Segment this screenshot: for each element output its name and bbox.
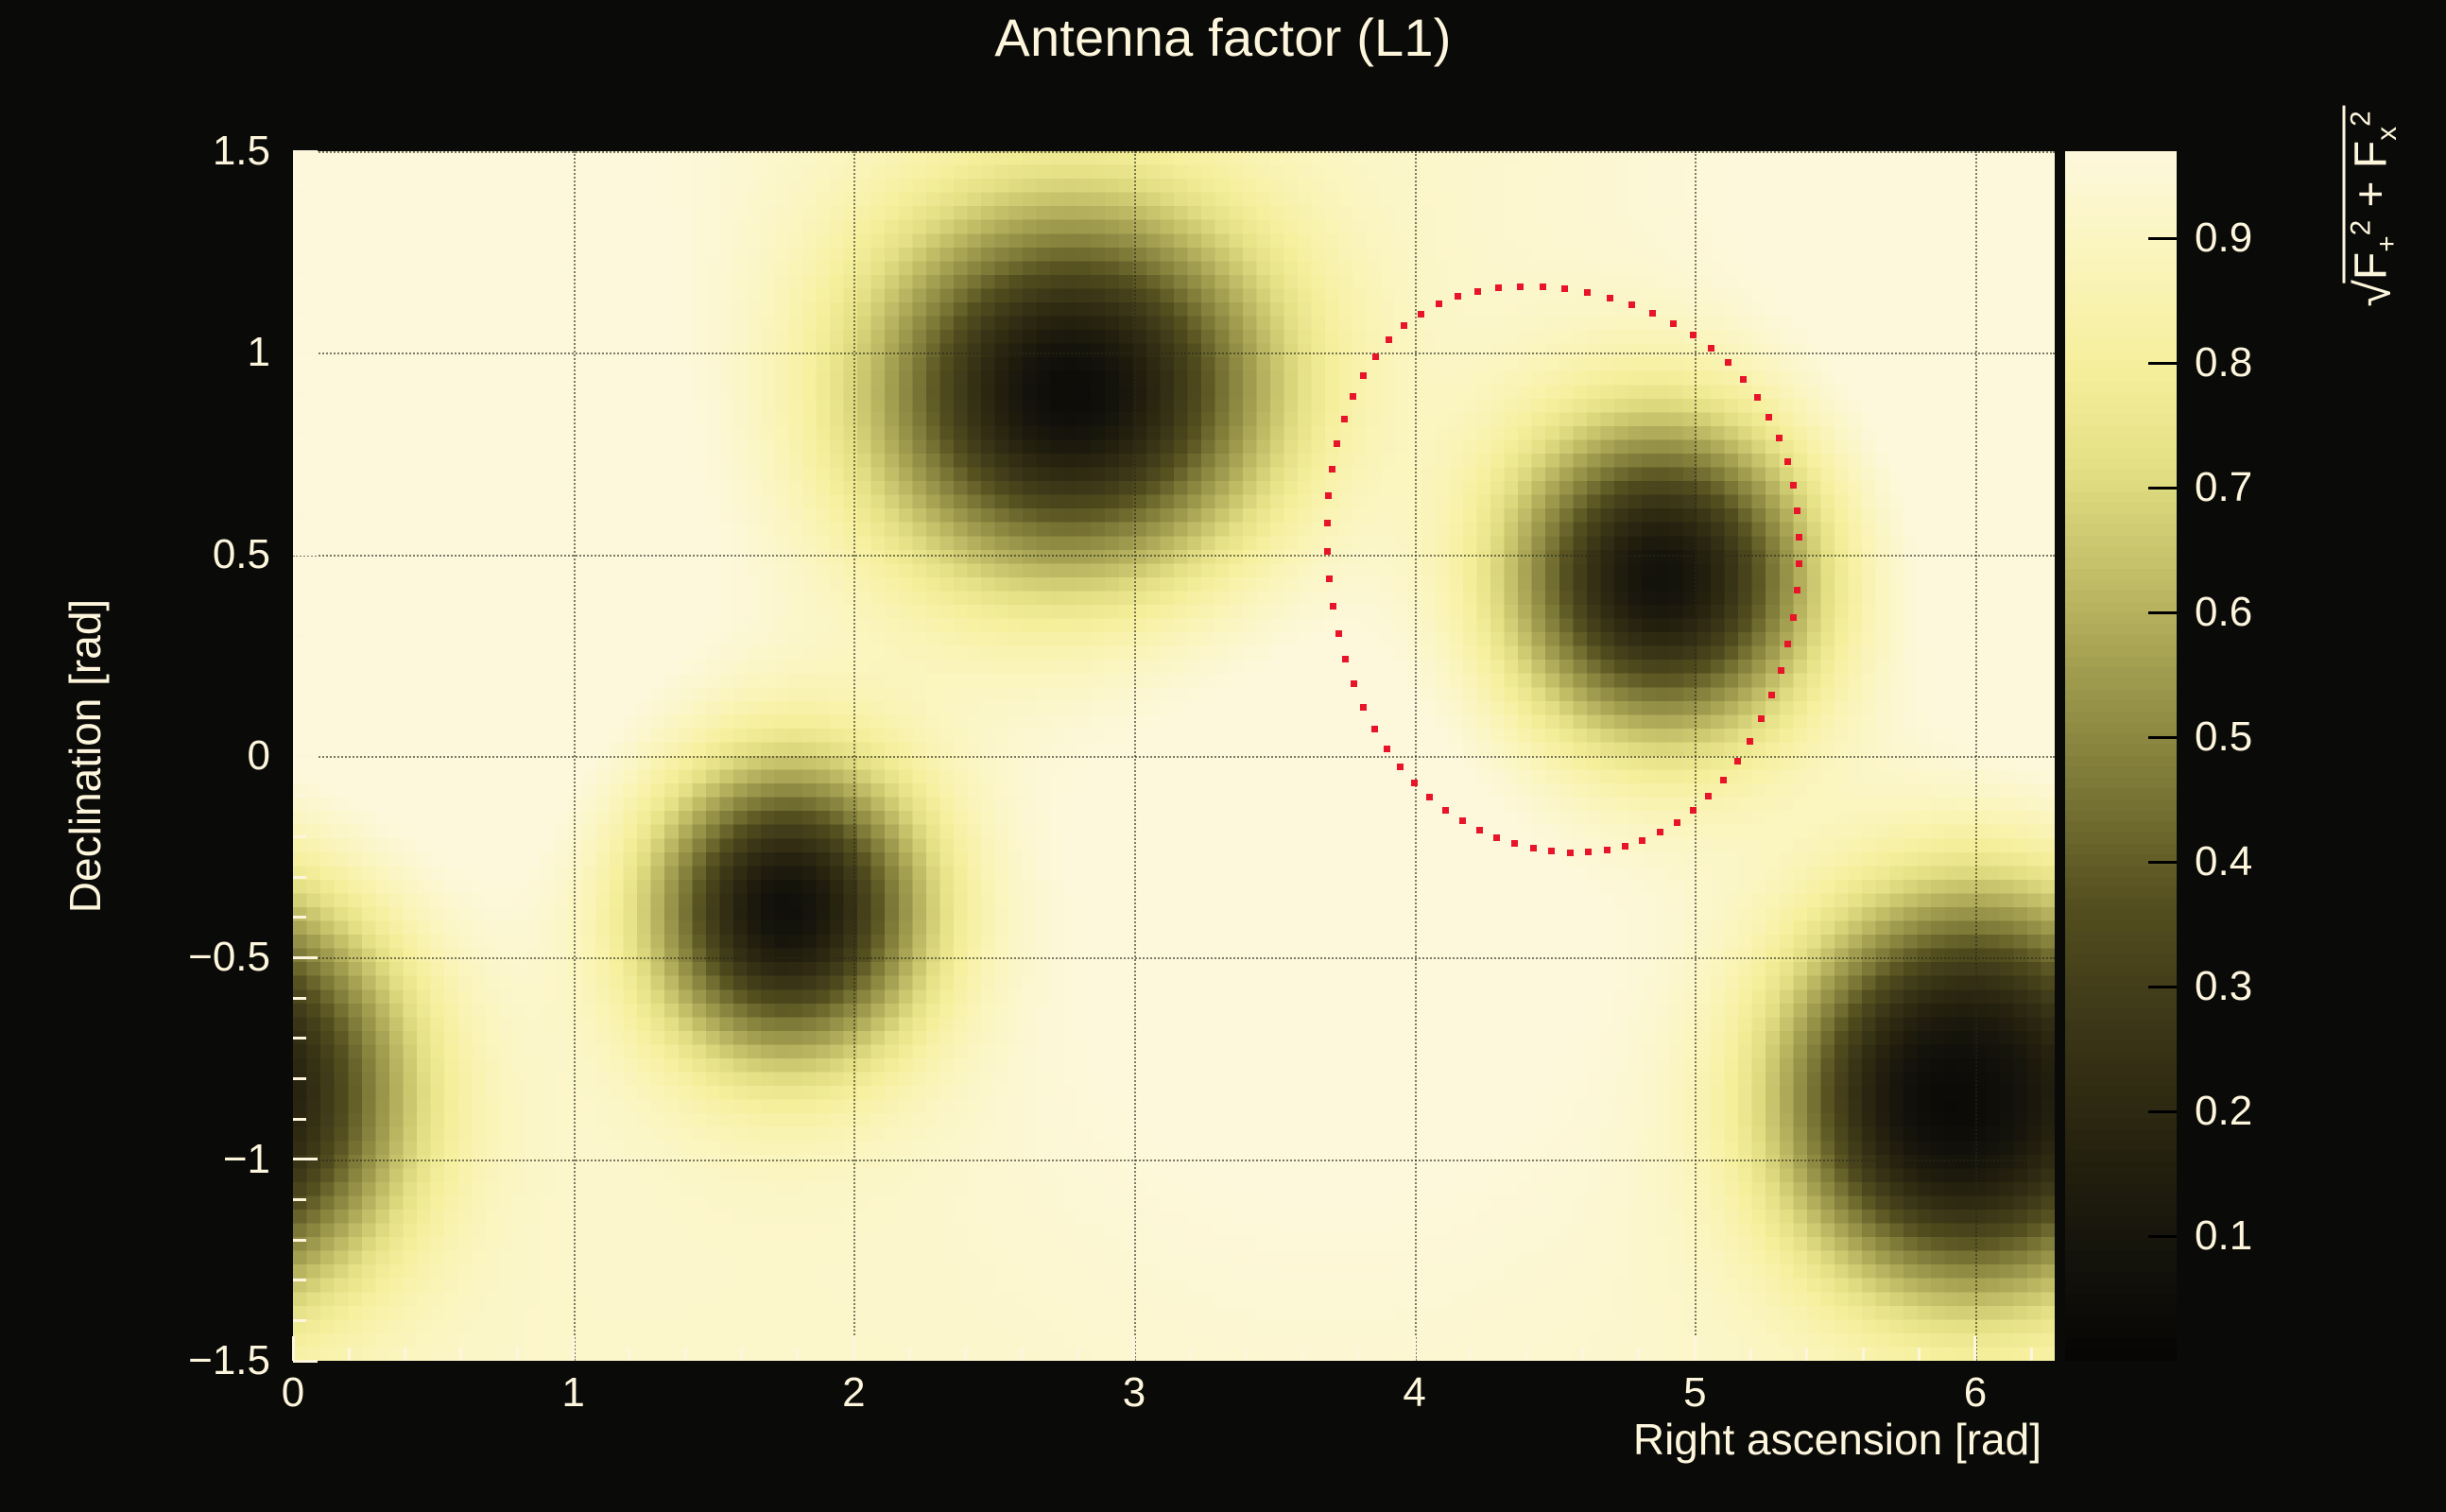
y-tick-label-4: 0.5 [213, 534, 270, 576]
y-axis-title-text: Declination [rad] [61, 599, 109, 913]
y-tick-minor [293, 271, 306, 274]
x-tick-major-5 [1694, 1336, 1697, 1361]
x-tick-minor [1301, 1348, 1303, 1361]
y-tick-minor [293, 795, 306, 798]
operator: + [2347, 180, 2397, 207]
x-tick-major-3 [1132, 1336, 1135, 1361]
x-tick-minor [516, 1348, 519, 1361]
colorbar-label-7: 0.8 [2195, 342, 2252, 384]
colorbar-label-3: 0.4 [2195, 841, 2252, 883]
colorbar-tick-5 [2148, 611, 2177, 614]
y-tick-major-1 [293, 1158, 318, 1160]
x-tick-minor [1245, 1348, 1248, 1361]
x-tick-label-0: 0 [282, 1372, 304, 1414]
colorbar-tick-6 [2148, 487, 2177, 490]
y-tick-label-0: −1.5 [188, 1340, 270, 1382]
colorbar-tick-8 [2148, 237, 2177, 240]
colorbar-tick-1 [2148, 1110, 2177, 1113]
x-tick-minor [1749, 1348, 1752, 1361]
y-tick-minor [293, 1239, 306, 1242]
y-tick-minor [293, 1077, 306, 1080]
x-tick-minor [1189, 1348, 1192, 1361]
colorbar[interactable] [2065, 151, 2177, 1361]
colorbar-label-6: 0.7 [2195, 467, 2252, 508]
colorbar-label-2: 0.3 [2195, 966, 2252, 1007]
x-tick-minor [1637, 1348, 1640, 1361]
colorbar-tick-0 [2148, 1235, 2177, 1238]
colorbar-label-1: 0.2 [2195, 1091, 2252, 1132]
x-tick-major-2 [853, 1336, 855, 1361]
radicand: F+2 + Fx2 [2343, 105, 2397, 283]
x-tick-minor [348, 1348, 351, 1361]
y-tick-minor [293, 593, 306, 596]
y-tick-major-4 [293, 553, 318, 556]
x-tick-minor [1469, 1348, 1472, 1361]
x-tick-label-1: 1 [561, 1372, 584, 1414]
y-tick-minor [293, 1319, 306, 1322]
x-tick-label-3: 3 [1123, 1372, 1145, 1414]
y-tick-major-5 [293, 352, 318, 354]
x-tick-minor [2030, 1348, 2033, 1361]
y-tick-minor [293, 231, 306, 233]
colorbar-label-8: 0.9 [2195, 217, 2252, 259]
x-tick-minor [1581, 1348, 1584, 1361]
sqrt-icon: √F+2 + Fx2 [2343, 105, 2399, 310]
y-tick-minor [293, 1037, 306, 1039]
x-tick-major-1 [572, 1336, 575, 1361]
radical-glyph: √ [2350, 280, 2399, 307]
y-tick-minor [293, 674, 306, 677]
x-tick-minor [404, 1348, 406, 1361]
colorbar-title: √F+2 + Fx2 [2314, 90, 2427, 326]
y-tick-label-5: 1 [248, 332, 270, 373]
x-tick-major-4 [1413, 1336, 1416, 1361]
colorbar-tick-7 [2148, 362, 2177, 365]
y-tick-minor [293, 392, 306, 395]
y-tick-major-0 [293, 1360, 318, 1363]
x-tick-minor [1357, 1348, 1360, 1361]
colorbar-label-4: 0.5 [2195, 716, 2252, 758]
term1-base: F [2347, 252, 2397, 280]
y-tick-label-6: 1.5 [213, 130, 270, 172]
term1-sub: + [2371, 235, 2403, 251]
colorbar-label-0: 0.1 [2195, 1215, 2252, 1257]
x-tick-label-4: 4 [1403, 1372, 1425, 1414]
x-tick-major-6 [1973, 1336, 1976, 1361]
x-axis-title: Right ascension [rad] [0, 1416, 2055, 1463]
x-tick-minor [1918, 1348, 1921, 1361]
heatmap-image [293, 151, 2055, 1361]
y-tick-minor [293, 1118, 306, 1121]
x-tick-minor [1805, 1348, 1808, 1361]
x-tick-minor [1077, 1348, 1079, 1361]
y-tick-minor [293, 190, 306, 193]
y-tick-major-2 [293, 956, 318, 959]
colorbar-title-text: √F+2 + Fx2 [2343, 105, 2399, 310]
y-tick-label-1: −1 [223, 1139, 270, 1180]
y-tick-major-3 [293, 755, 318, 758]
y-tick-label-3: 0 [248, 735, 270, 777]
x-tick-minor [684, 1348, 687, 1361]
y-tick-major-6 [293, 150, 318, 153]
colorbar-label-5: 0.6 [2195, 592, 2252, 633]
x-tick-minor [740, 1348, 743, 1361]
page-title: Antenna factor (L1) [0, 8, 2446, 68]
y-tick-minor [293, 714, 306, 717]
y-tick-minor [293, 835, 306, 838]
heatmap-canvas [293, 151, 2055, 1361]
y-tick-minor [293, 432, 306, 435]
y-tick-minor [293, 876, 306, 879]
term1-sup: 2 [2346, 220, 2377, 236]
y-tick-minor [293, 472, 306, 475]
colorbar-gradient [2065, 151, 2177, 1361]
colorbar-tick-2 [2148, 986, 2177, 988]
y-tick-minor [293, 311, 306, 314]
x-tick-label-2: 2 [842, 1372, 865, 1414]
y-tick-label-2: −0.5 [188, 936, 270, 978]
x-tick-minor [964, 1348, 967, 1361]
x-tick-minor [628, 1348, 630, 1361]
colorbar-tick-3 [2148, 861, 2177, 864]
plot-area[interactable] [293, 151, 2055, 1361]
y-tick-minor [293, 634, 306, 637]
term2-base: F [2347, 141, 2397, 168]
x-tick-label-5: 5 [1683, 1372, 1706, 1414]
term2-sub: x [2371, 127, 2403, 141]
y-tick-minor [293, 513, 306, 516]
colorbar-tick-4 [2148, 736, 2177, 739]
x-tick-minor [1862, 1348, 1865, 1361]
x-tick-minor [1525, 1348, 1528, 1361]
x-tick-label-6: 6 [1964, 1372, 1987, 1414]
x-tick-major-0 [292, 1336, 295, 1361]
y-tick-minor [293, 1198, 306, 1201]
term2-sup: 2 [2346, 111, 2377, 127]
x-tick-minor [908, 1348, 911, 1361]
root-canvas: Antenna factor (L1) −1.5−1−0.500.511.501… [0, 0, 2446, 1512]
y-axis-title: Declination [rad] [59, 151, 112, 1361]
x-tick-minor [796, 1348, 799, 1361]
y-tick-minor [293, 997, 306, 1000]
y-tick-minor [293, 916, 306, 919]
x-tick-minor [1021, 1348, 1024, 1361]
y-tick-minor [293, 1279, 306, 1281]
x-tick-minor [459, 1348, 462, 1361]
